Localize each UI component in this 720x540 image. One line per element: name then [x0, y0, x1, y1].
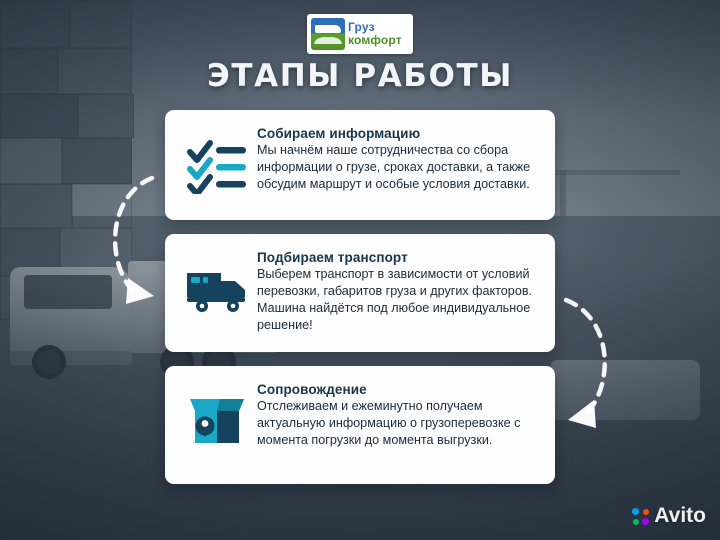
step-card-3-title: Сопровождение	[257, 382, 537, 397]
step-card-1-title: Собираем информацию	[257, 126, 537, 141]
package-tracking-icon	[181, 382, 253, 460]
brand-logo-text: Груз комфорт	[348, 21, 402, 46]
brand-name-line2: комфорт	[348, 34, 402, 47]
delivery-truck-icon	[181, 250, 253, 328]
avito-logo-icon	[632, 508, 649, 525]
step-card-3-body: Отслеживаем и ежеминутно получаем актуал…	[257, 398, 537, 449]
step-card-1[interactable]: Собираем информацию Мы начнём наше сотру…	[165, 110, 555, 220]
brand-logo: Груз комфорт	[307, 14, 413, 54]
step-card-2[interactable]: Подбираем транспорт Выберем транспорт в …	[165, 234, 555, 352]
page-title: ЭТАПЫ РАБОТЫ	[0, 58, 720, 94]
avito-label: Avito	[654, 504, 706, 528]
step-card-1-text: Собираем информацию Мы начнём наше сотру…	[253, 126, 537, 193]
step-card-2-body: Выберем транспорт в зависимости от услов…	[257, 266, 537, 334]
step-card-1-body: Мы начнём наше сотрудничества со сбора и…	[257, 142, 537, 193]
steps-list: Собираем информацию Мы начнём наше сотру…	[165, 110, 555, 498]
step-card-2-text: Подбираем транспорт Выберем транспорт в …	[253, 250, 537, 334]
avito-watermark: Avito	[632, 504, 706, 528]
truck-road-logo-icon	[311, 18, 345, 50]
step-card-2-title: Подбираем транспорт	[257, 250, 537, 265]
step-card-3-text: Сопровождение Отслеживаем и ежеминутно п…	[253, 382, 537, 449]
step-card-3[interactable]: Сопровождение Отслеживаем и ежеминутно п…	[165, 366, 555, 484]
checklist-icon	[181, 126, 253, 204]
